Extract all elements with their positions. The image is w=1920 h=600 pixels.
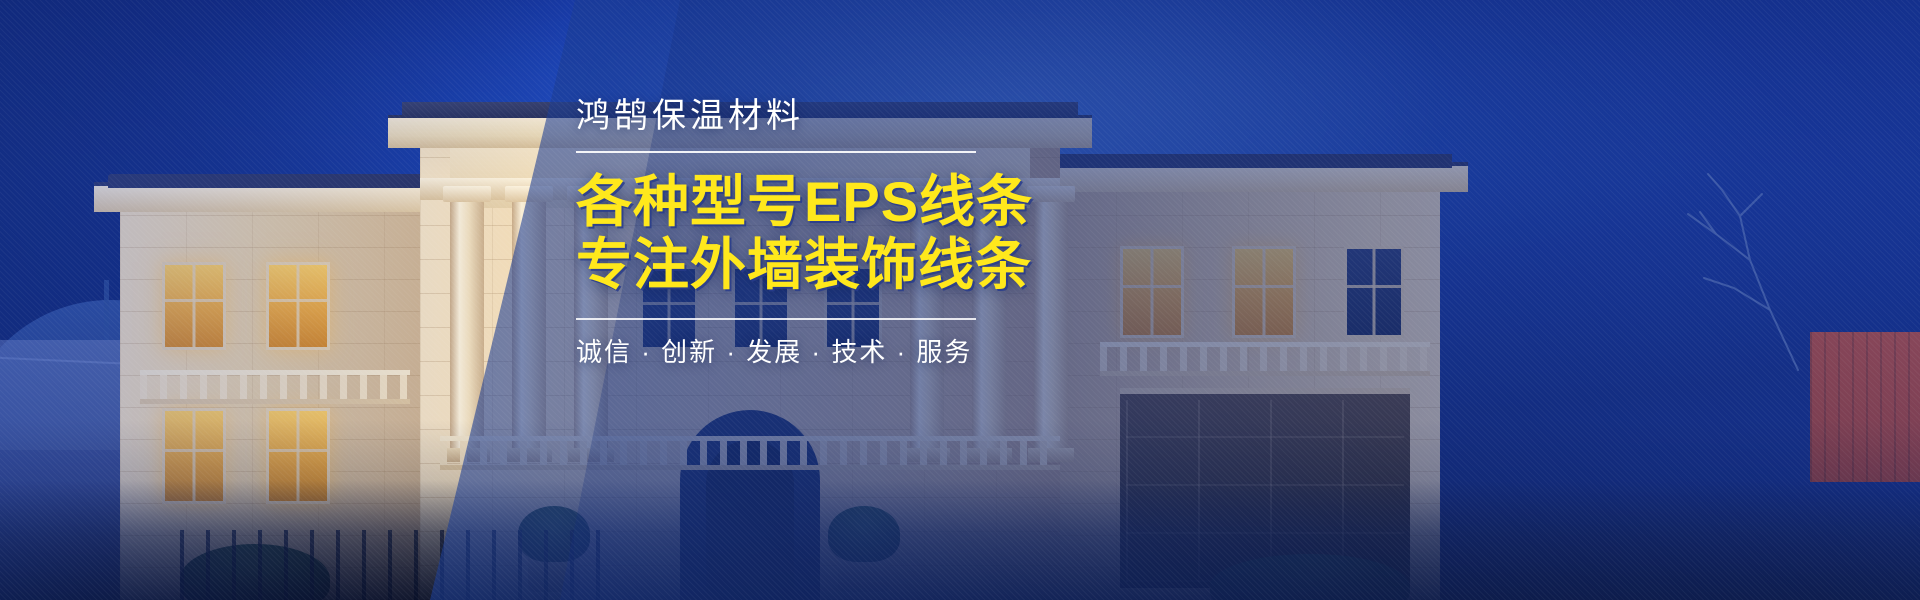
tagline: 诚信 · 创新 · 发展 · 技术 · 服务: [576, 336, 1006, 370]
hero-banner: 鸿鹄保温材料 各种型号EPS线条 专注外墙装饰线条 诚信 · 创新 · 发展 ·…: [0, 0, 1920, 600]
divider-bottom: [576, 318, 976, 320]
banner-text-block: 鸿鹄保温材料 各种型号EPS线条 专注外墙装饰线条 诚信 · 创新 · 发展 ·…: [576, 96, 1006, 370]
brand-name: 鸿鹄保温材料: [576, 96, 1006, 137]
divider-top: [576, 151, 976, 153]
headline-line-2: 专注外墙装饰线条: [576, 234, 1006, 297]
headline: 各种型号EPS线条 专注外墙装饰线条: [576, 171, 1006, 296]
headline-line-1: 各种型号EPS线条: [576, 171, 1006, 234]
